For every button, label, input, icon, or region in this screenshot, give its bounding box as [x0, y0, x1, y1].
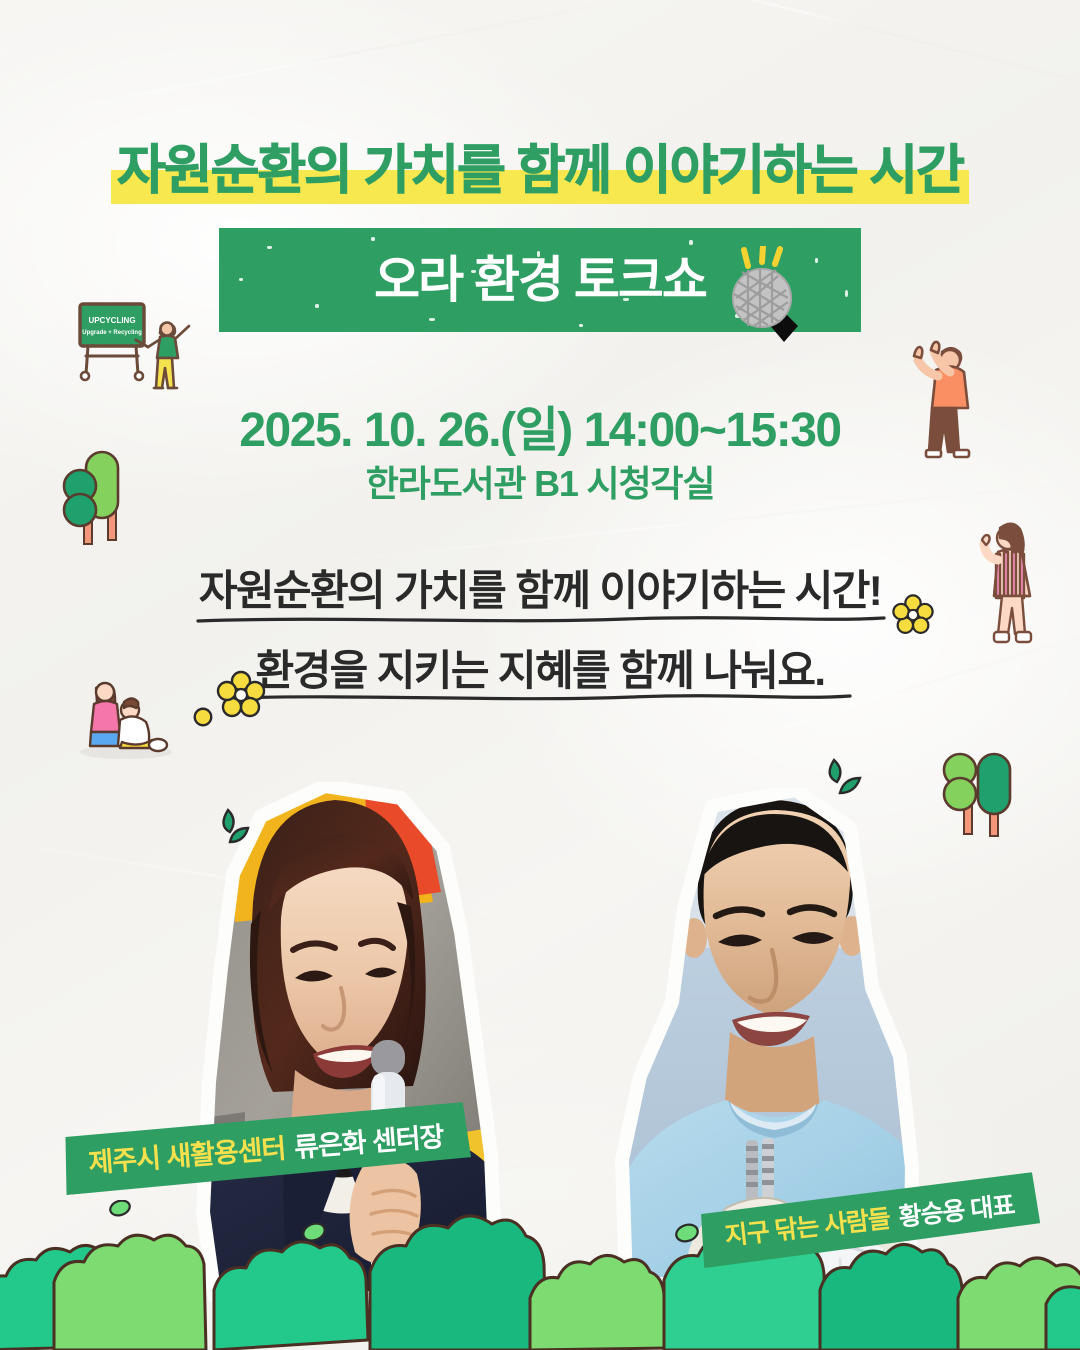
tree-pair-right-illustration — [938, 748, 1058, 858]
event-poster: 자원순환의 가치를 함께 이야기하는 시간 오라 환경 토크쇼 — [0, 0, 1080, 1350]
cheering-person-illustration — [898, 336, 1008, 466]
sitting-couple-illustration — [68, 666, 188, 766]
striped-dress-person-illustration — [956, 516, 1066, 656]
flower-decoration — [890, 592, 936, 638]
poster-headline: 자원순환의 가치를 함께 이야기하는 시간 — [111, 128, 969, 206]
headline-text: 자원순환의 가치를 함께 이야기하는 시간 — [117, 141, 963, 200]
band-title-text: 오라 환경 토크쇼 — [0, 230, 1080, 330]
underline-stroke — [196, 614, 886, 626]
paper-crease — [0, 0, 654, 130]
flower-decoration — [214, 668, 268, 722]
microphone-icon — [722, 246, 832, 366]
speaker-name-title: 황승용 대표 — [897, 1185, 1016, 1233]
speaker-organization: 제주시 새활용센터 — [87, 1127, 287, 1181]
flower-decoration — [192, 706, 214, 728]
tree-pair-left-illustration — [62, 444, 182, 569]
leaf-decoration — [204, 804, 258, 858]
paper-crease — [529, 0, 1080, 100]
speaker-name-title: 류은화 센터장 — [293, 1115, 445, 1165]
leaf-decoration — [812, 756, 868, 808]
svg-text:Upgrade + Recycling: Upgrade + Recycling — [82, 330, 142, 336]
underline-stroke — [232, 692, 852, 704]
headline-container: 자원순환의 가치를 함께 이야기하는 시간 — [0, 128, 1080, 206]
